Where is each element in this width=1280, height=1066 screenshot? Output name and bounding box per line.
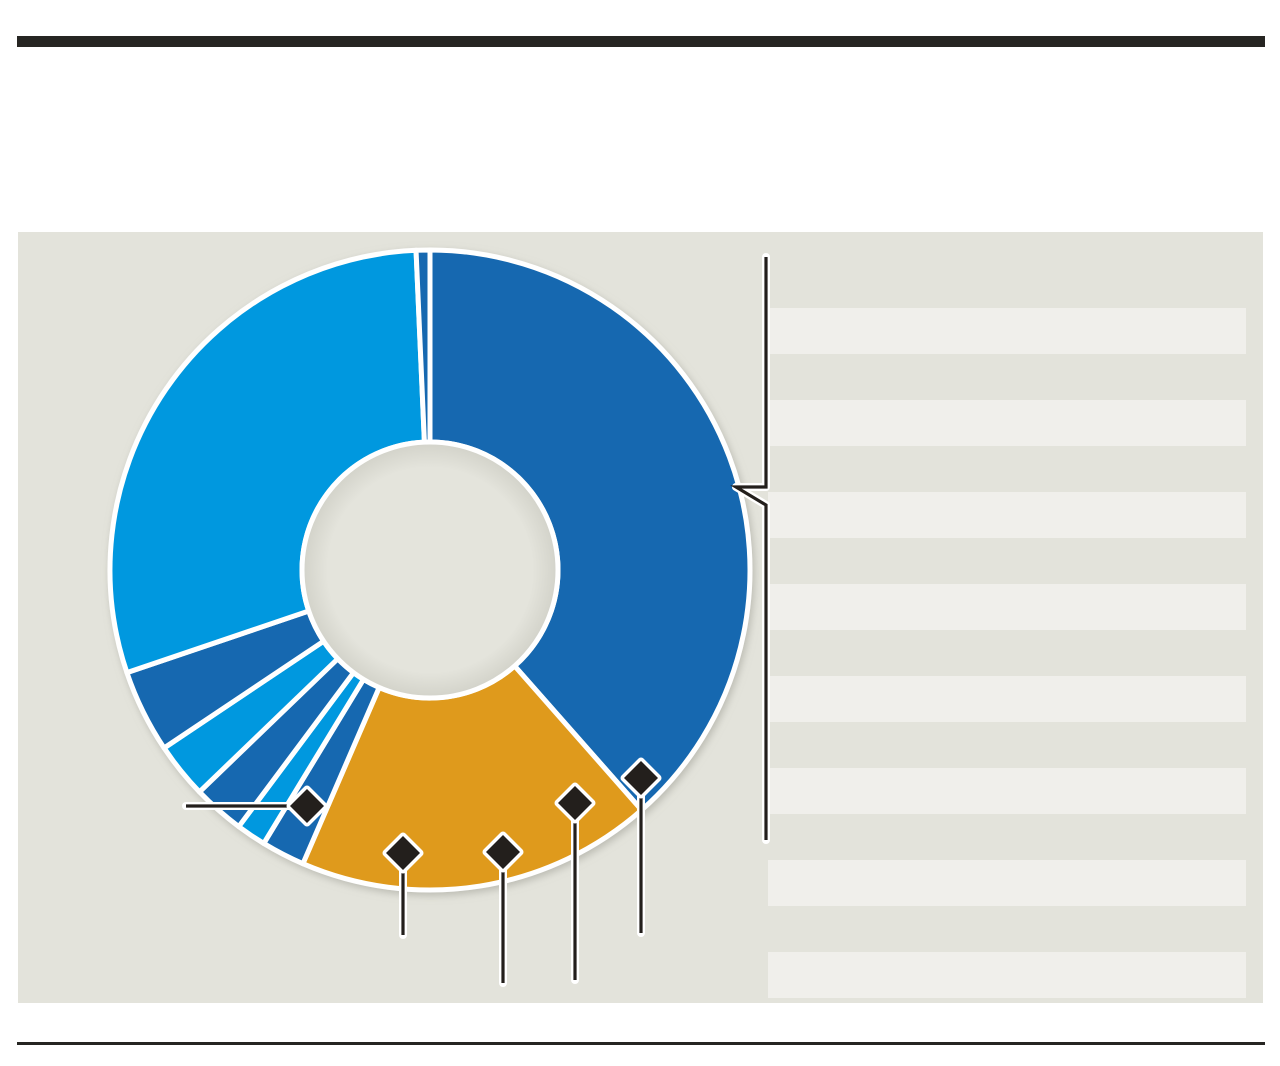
table-row[interactable]	[768, 538, 1246, 584]
table-row[interactable]	[768, 814, 1246, 860]
table-row[interactable]	[768, 952, 1246, 998]
slide-canvas	[0, 0, 1280, 1066]
table-row[interactable]	[768, 676, 1246, 722]
table-row[interactable]	[768, 860, 1246, 906]
table-row[interactable]	[768, 400, 1246, 446]
table-row[interactable]	[768, 584, 1246, 630]
donut-hole	[302, 442, 558, 698]
data-stripe-table	[768, 270, 1246, 970]
chart-panel	[18, 232, 1263, 1003]
top-divider-rule	[17, 36, 1265, 47]
table-row[interactable]	[768, 768, 1246, 814]
table-row[interactable]	[768, 492, 1246, 538]
table-row[interactable]	[768, 308, 1246, 354]
table-row[interactable]	[768, 630, 1246, 676]
bottom-divider-rule	[17, 1042, 1265, 1045]
table-row[interactable]	[768, 354, 1246, 400]
table-row[interactable]	[768, 906, 1246, 952]
table-row[interactable]	[768, 722, 1246, 768]
table-row[interactable]	[768, 446, 1246, 492]
